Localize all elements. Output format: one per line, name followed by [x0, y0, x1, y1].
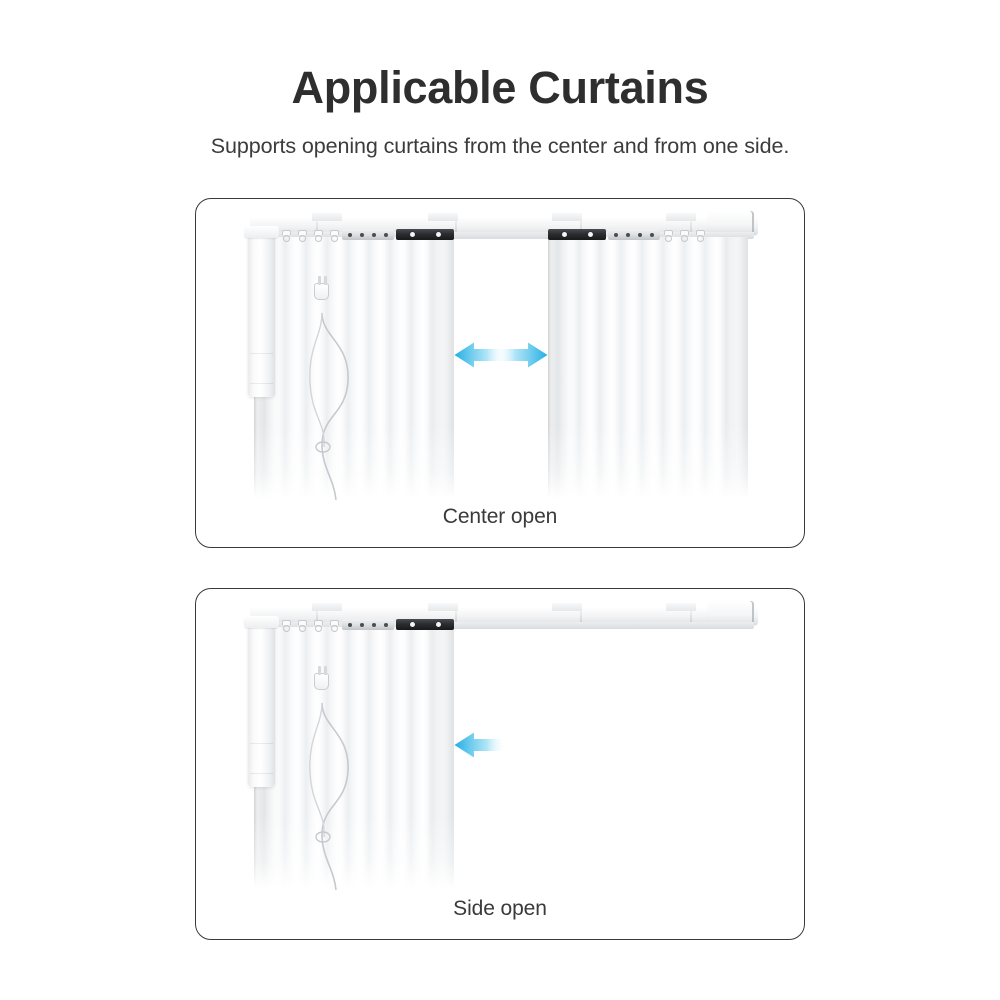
card-center-open: Center open: [195, 198, 805, 548]
header: Applicable Curtains Supports opening cur…: [0, 0, 1000, 159]
curtain-carrier-light: [342, 619, 394, 630]
curtain-carrier-block: [396, 619, 454, 630]
arrow-right-icon: [496, 342, 548, 368]
motor-seam: [250, 383, 273, 384]
page-title: Applicable Curtains: [0, 62, 1000, 114]
rail-bracket: [312, 213, 342, 221]
motor-seam: [250, 773, 273, 774]
curtain-carrier-light: [608, 229, 660, 240]
curtain-hook: [298, 620, 307, 633]
curtain-hook: [696, 230, 705, 243]
rail-bracket: [666, 603, 696, 611]
motor-head: [244, 226, 279, 238]
motor-seam: [250, 743, 273, 744]
motor-head: [244, 616, 279, 628]
curtain-hook: [330, 620, 339, 633]
curtain-hook: [330, 230, 339, 243]
rail-bracket: [666, 213, 696, 221]
curtain-hook: [680, 230, 689, 243]
card-caption-center-open: Center open: [196, 505, 804, 529]
motor-seam: [250, 353, 273, 354]
right-curtain-panel: [548, 237, 748, 499]
card-side-open: Side open: [195, 588, 805, 940]
rail-bracket: [428, 603, 458, 611]
rail-bracket: [552, 213, 582, 221]
curtain-hook: [314, 620, 323, 633]
plug-prong: [324, 666, 327, 675]
curtain-carrier-light: [342, 229, 394, 240]
curtain-motor-unit: [248, 625, 275, 787]
curtain-hook: [664, 230, 673, 243]
scene-center-open: [196, 199, 804, 547]
curtain-shading: [548, 237, 748, 499]
rail-bracket: [312, 603, 342, 611]
power-plug: [314, 283, 329, 300]
curtain-carrier-block: [548, 229, 606, 240]
card-caption-side-open: Side open: [196, 897, 804, 921]
rail-bracket: [428, 213, 458, 221]
curtain-hook: [282, 230, 291, 243]
curtain-hook: [298, 230, 307, 243]
power-plug: [314, 673, 329, 690]
page-subtitle: Supports opening curtains from the cente…: [0, 134, 1000, 159]
plug-prong: [318, 276, 321, 285]
arrow-left-icon: [454, 732, 506, 758]
curtain-hook: [314, 230, 323, 243]
scene-side-open: [196, 589, 804, 939]
rail-bracket: [552, 603, 582, 611]
plug-prong: [324, 276, 327, 285]
infographic-page: Applicable Curtains Supports opening cur…: [0, 0, 1000, 1000]
curtain-edge: [548, 237, 551, 499]
curtain-hook: [282, 620, 291, 633]
curtain-carrier-block: [396, 229, 454, 240]
power-cord-with-plug: [292, 685, 382, 890]
curtain-motor-unit: [248, 235, 275, 397]
plug-prong: [318, 666, 321, 675]
power-cord-with-plug: [292, 295, 382, 500]
